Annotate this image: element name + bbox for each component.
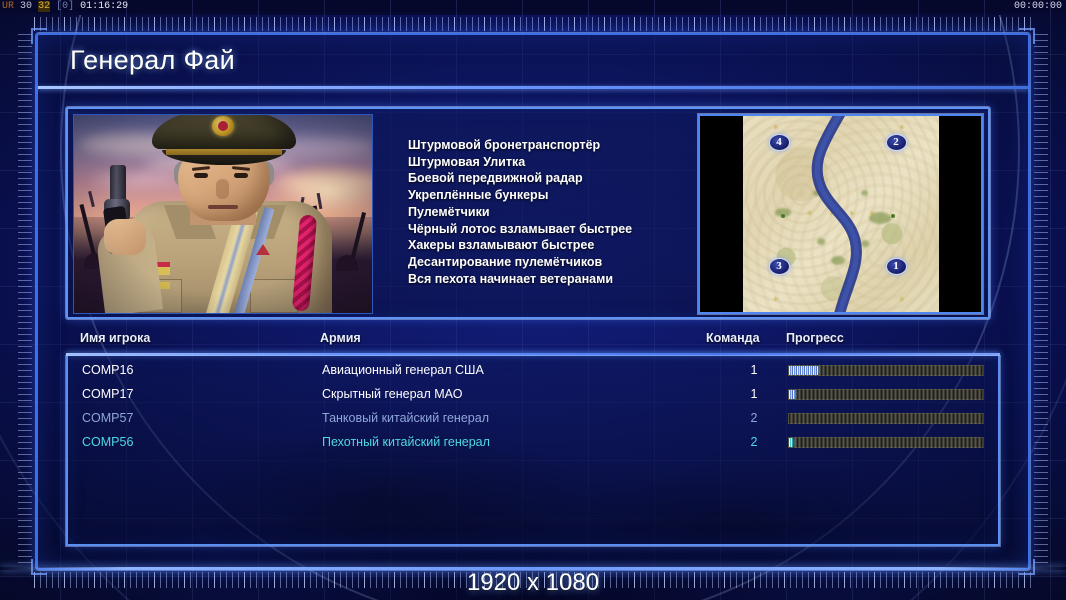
- ability-item: Боевой передвижной радар: [408, 170, 698, 187]
- cell-army: Танковый китайский генерал: [322, 406, 489, 431]
- table-row[interactable]: COMP16 Авиационный генерал США 1: [68, 358, 998, 383]
- cell-army: Скрытный генерал МАО: [322, 382, 462, 407]
- resolution-label: 1920 x 1080: [0, 569, 1066, 597]
- column-header-player-name: Имя игрока: [80, 331, 150, 345]
- cell-progress: [788, 365, 984, 376]
- map-start-position: 1: [886, 258, 907, 275]
- ability-item: Пулемётчики: [408, 204, 698, 221]
- ability-item: Укреплённые бункеры: [408, 187, 698, 204]
- debug-value-2: 32: [38, 1, 50, 12]
- start-position-label: 4: [776, 136, 782, 148]
- title-bar: Генерал Фай: [38, 35, 1028, 89]
- ruler-left: [18, 34, 32, 566]
- map-terrain: ✳ ✳ ✳ ✳ ✳ ✳ ✳ ✳ 4 2 3 1: [743, 116, 939, 312]
- progress-bar-track: [788, 365, 984, 376]
- cell-team: 1: [736, 382, 772, 407]
- ability-item: Штурмовая Улитка: [408, 154, 698, 171]
- debug-label: UR: [2, 1, 14, 12]
- table-body: COMP16 Авиационный генерал США 1 COMP17 …: [66, 356, 1000, 546]
- cell-team: 2: [736, 406, 772, 431]
- cell-player-name: COMP56: [82, 430, 133, 455]
- cell-army: Пехотный китайский генерал: [322, 430, 490, 455]
- map-start-position: 4: [769, 134, 790, 151]
- start-position-label: 3: [776, 260, 782, 272]
- cell-progress: [788, 437, 984, 448]
- progress-bar-fill: [789, 390, 795, 399]
- table-row[interactable]: COMP17 Скрытный генерал МАО 1: [68, 382, 998, 407]
- table-row[interactable]: COMP56 Пехотный китайский генерал 2: [68, 430, 998, 455]
- cell-player-name: COMP17: [82, 382, 133, 407]
- ruler-right: [1034, 34, 1048, 566]
- game-lobby-screen: UR 30 32 [0] 01:16:29 00:00:00 Генерал Ф…: [0, 0, 1066, 600]
- general-info-panel: Штурмовой бронетранспортёр Штурмовая Ули…: [66, 107, 990, 319]
- main-panel-frame: Генерал Фай: [36, 33, 1030, 570]
- map-preview[interactable]: ✳ ✳ ✳ ✳ ✳ ✳ ✳ ✳ 4 2 3 1: [698, 114, 983, 314]
- cell-team: 2: [736, 430, 772, 455]
- general-portrait: [73, 114, 373, 314]
- general-abilities-list: Штурмовой бронетранспортёр Штурмовая Ули…: [408, 137, 698, 287]
- debug-value-1: 30: [20, 1, 32, 12]
- cell-army: Авиационный генерал США: [322, 358, 484, 383]
- player-list-table: Имя игрока Армия Команда Прогресс COMP16…: [66, 331, 1000, 546]
- ruler-top: [34, 17, 1032, 31]
- session-timer: 01:16:29: [80, 1, 128, 12]
- ability-item: Штурмовой бронетранспортёр: [408, 137, 698, 154]
- start-position-label: 1: [893, 260, 899, 272]
- table-header-row: Имя игрока Армия Команда Прогресс: [66, 331, 1000, 353]
- ability-item: Вся пехота начинает ветеранами: [408, 271, 698, 288]
- page-title: Генерал Фай: [70, 45, 235, 76]
- debug-stats-readout: UR 30 32 [0] 01:16:29: [2, 0, 128, 14]
- top-bar-grid: [0, 0, 1066, 15]
- ability-item: Десантирование пулемётчиков: [408, 254, 698, 271]
- progress-bar-track: [788, 437, 984, 448]
- column-header-progress: Прогресс: [786, 331, 844, 345]
- map-start-position: 3: [769, 258, 790, 275]
- ability-item: Хакеры взламывают быстрее: [408, 237, 698, 254]
- cell-player-name: COMP16: [82, 358, 133, 383]
- top-status-bar: UR 30 32 [0] 01:16:29 00:00:00: [0, 0, 1066, 15]
- progress-bar-fill: [789, 438, 793, 447]
- map-start-position: 2: [886, 134, 907, 151]
- cell-progress: [788, 389, 984, 400]
- progress-bar-track: [788, 389, 984, 400]
- portrait-vignette: [74, 115, 372, 313]
- debug-value-3: [0]: [56, 1, 74, 12]
- cell-player-name: COMP57: [82, 406, 133, 431]
- progress-bar-track: [788, 413, 984, 424]
- column-header-team: Команда: [706, 331, 760, 345]
- column-header-army: Армия: [320, 331, 361, 345]
- progress-bar-fill: [789, 366, 818, 375]
- start-position-label: 2: [893, 136, 899, 148]
- game-clock: 00:00:00: [1014, 0, 1062, 14]
- table-row[interactable]: COMP57 Танковый китайский генерал 2: [68, 406, 998, 431]
- cell-team: 1: [736, 358, 772, 383]
- cell-progress: [788, 413, 984, 424]
- ability-item: Чёрный лотос взламывает быстрее: [408, 221, 698, 238]
